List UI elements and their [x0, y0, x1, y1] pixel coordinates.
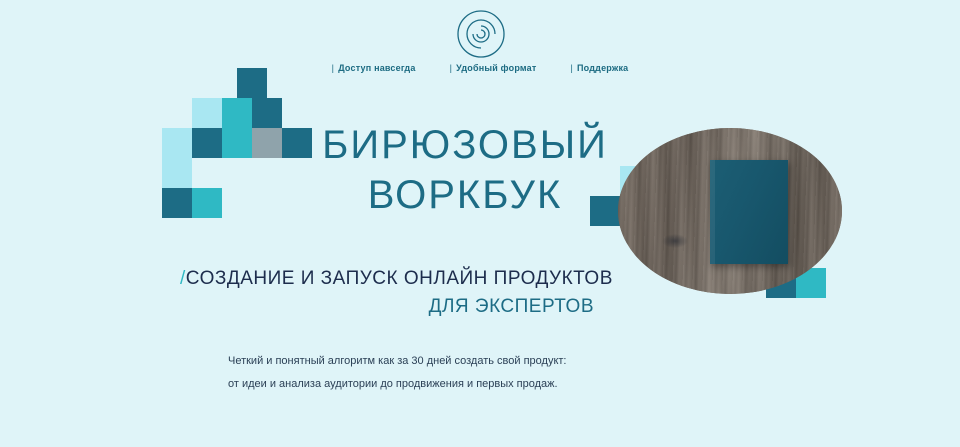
teal-notebook — [710, 160, 788, 264]
poster-page: | Доступ навсегда | Удобный формат | Под… — [0, 0, 960, 447]
logo-svg — [455, 8, 507, 60]
nav-item-support-label: Поддержка — [577, 63, 628, 73]
decorative-square-left-5 — [192, 128, 222, 158]
nav-item-access[interactable]: | Доступ навсегда — [332, 63, 416, 73]
nav-item-support[interactable]: | Поддержка — [570, 63, 628, 73]
subtitle-line-1-text: СОЗДАНИЕ И ЗАПУСК ОНЛАЙН ПРОДУКТОВ — [186, 268, 613, 289]
description-paragraph: Четкий и понятный алгоритм как за 30 дне… — [228, 350, 578, 396]
product-photo — [618, 128, 842, 294]
nav-item-format[interactable]: | Удобный формат — [450, 63, 537, 73]
decorative-square-left-10 — [162, 188, 192, 218]
decorative-square-left-4 — [162, 128, 192, 158]
subtitle-line-1: /СОЗДАНИЕ И ЗАПУСК ОНЛАЙН ПРОДУКТОВ — [180, 268, 613, 290]
decorative-square-left-1 — [192, 98, 222, 128]
decorative-square-left-11 — [192, 188, 222, 218]
subtitle-line-2: ДЛЯ ЭКСПЕРТОВ — [180, 296, 594, 318]
top-nav: | Доступ навсегда | Удобный формат | Под… — [0, 63, 960, 73]
nav-bar-icon: | — [332, 63, 335, 73]
decorative-square-left-9 — [162, 158, 192, 188]
nav-item-access-label: Доступ навсегда — [338, 63, 415, 73]
nav-item-format-label: Удобный формат — [456, 63, 536, 73]
circle-spiral-logo — [455, 8, 507, 60]
nav-bar-icon: | — [570, 63, 573, 73]
wood-knot — [662, 234, 688, 248]
nav-bar-icon: | — [450, 63, 453, 73]
